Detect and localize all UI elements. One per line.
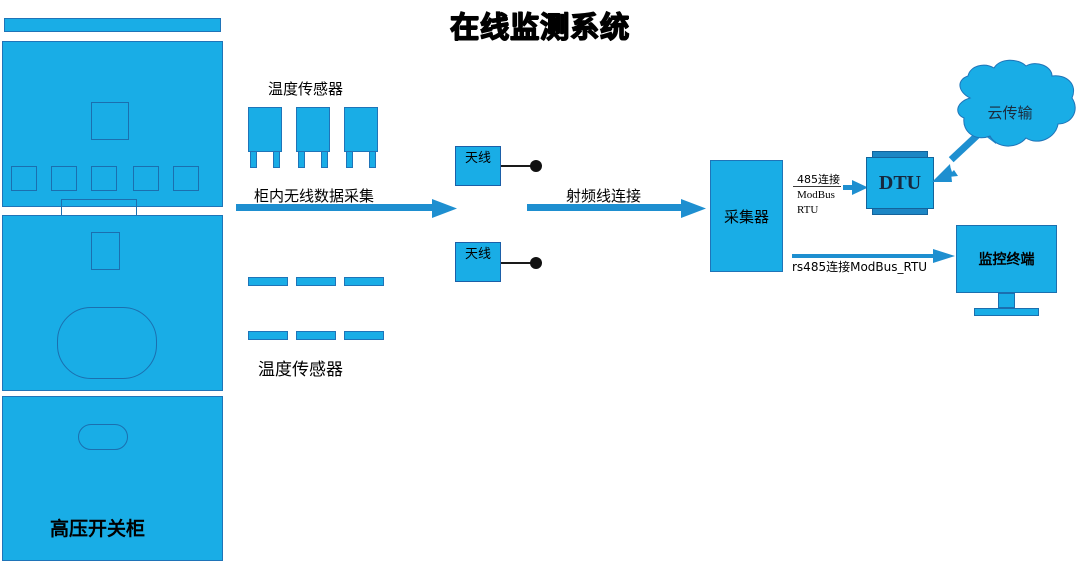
panel-square-small <box>11 166 37 191</box>
antenna-box-bottom: 天线 <box>455 242 501 282</box>
sensor-body <box>344 107 378 152</box>
panel-square-small <box>51 166 77 191</box>
antenna-cable-endpoint-bottom <box>530 257 542 269</box>
arrow-wireless-collection <box>236 198 458 220</box>
temperature-sensor-bar <box>248 331 288 340</box>
monitor-stand-neck <box>998 293 1015 308</box>
cloud-label: 云传输 <box>940 102 1080 123</box>
sensor-leg <box>298 152 305 168</box>
collector-node: 采集器 <box>710 160 783 272</box>
rs485-label-line3: RTU <box>797 204 818 216</box>
cloud-node: 云传输 <box>940 58 1080 170</box>
cabinet-top-bar <box>4 18 221 32</box>
diagram-canvas: 在线监测系统 高压开关柜 温度传感器 柜内无线数据采集 <box>0 0 1080 566</box>
sensor-leg <box>369 152 376 168</box>
dtu-label: DTU <box>866 157 934 209</box>
rs485-label-line1: 485连接 <box>797 171 840 187</box>
sensor-leg <box>346 152 353 168</box>
antenna-cable-endpoint-top <box>530 160 542 172</box>
antenna-cable-top <box>501 165 533 167</box>
temperature-sensor-label-top: 温度传感器 <box>268 78 343 99</box>
dtu-bottom-band <box>872 208 928 215</box>
temperature-sensor-bar <box>248 277 288 286</box>
middle-panel-small-rectangle <box>91 232 120 270</box>
rs485-label-underline <box>793 186 841 187</box>
cabinet-upper-panel <box>2 41 223 207</box>
antenna-cable-bottom <box>501 262 533 264</box>
panel-square-small <box>173 166 199 191</box>
monitor-screen-label: 监控终端 <box>956 225 1057 293</box>
sensor-body <box>248 107 282 152</box>
antenna-box-top: 天线 <box>455 146 501 186</box>
panel-square-small <box>91 166 117 191</box>
panel-square-large <box>91 102 129 140</box>
sensor-leg <box>321 152 328 168</box>
temperature-sensor-bar <box>296 277 336 286</box>
temperature-sensor-bar <box>344 277 384 286</box>
cabinet-label: 高压开关柜 <box>50 514 145 541</box>
monitor-stand-base <box>974 308 1039 316</box>
sensor-leg <box>273 152 280 168</box>
temperature-sensor-label-bottom: 温度传感器 <box>258 355 343 380</box>
middle-panel-rounded-rectangle <box>57 307 157 379</box>
panel-square-small <box>133 166 159 191</box>
temperature-sensor-bar <box>296 331 336 340</box>
arrow-rf-connection <box>527 198 707 220</box>
rs485-label-line2: ModBus <box>797 189 835 201</box>
rs485-bottom-label: rs485连接ModBus_RTU <box>792 258 927 275</box>
sensor-body <box>296 107 330 152</box>
lower-panel-pill-shape <box>78 424 128 450</box>
sensor-leg <box>250 152 257 168</box>
temperature-sensor-bar <box>344 331 384 340</box>
